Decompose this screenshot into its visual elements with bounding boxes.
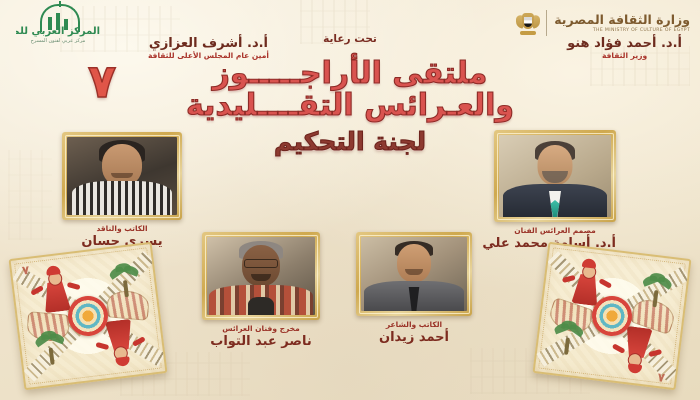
portrait-nasser-abdel-tawab xyxy=(207,237,315,315)
portrait-osama-mohamed-ali xyxy=(499,135,611,217)
member-name: ناصر عبد التواب xyxy=(202,334,320,350)
edition-number: ٧ xyxy=(88,58,116,104)
event-poster: المركز العربي للمسرح مركز عربي لفنون الم… xyxy=(0,0,700,400)
palm-tree-icon xyxy=(553,323,582,356)
member-role: مصمم العرائس الفنان xyxy=(494,226,616,236)
photo-frame xyxy=(62,132,182,220)
background-watermark xyxy=(8,150,52,240)
member-name: أحمد زيدان xyxy=(356,330,472,346)
photo-frame xyxy=(494,130,616,222)
jury-member-card: مصمم العرائس الفنان أ.د. أسامة محمد علي xyxy=(494,130,616,252)
panel-corner-glyph: ٧ xyxy=(21,263,30,278)
portrait-ahmed-zidan xyxy=(361,237,467,311)
jury-member-card: الكاتب والناقد يسري حسان xyxy=(62,132,182,250)
jury-member-card: الكاتب والشاعر أحمد زيدان xyxy=(356,232,472,346)
palm-tree-icon xyxy=(36,333,65,366)
member-role: مخرج وفنان العرائس xyxy=(202,324,320,334)
photo-frame xyxy=(356,232,472,316)
portrait-yosri-hassan xyxy=(67,137,177,215)
palm-tree-icon xyxy=(641,276,670,309)
panel-corner-glyph: ٧ xyxy=(657,370,666,385)
event-title: ٧ ملتقى الأراجـــــوز والعـرائس التقــــ… xyxy=(0,58,700,122)
ministry-name-arabic: وزارة الثقافة المصرية xyxy=(554,13,690,27)
jury-member-card: مخرج وفنان العرائس ناصر عبد التواب xyxy=(202,232,320,350)
secretary-name: أ.د. أشرف العزازي xyxy=(148,36,269,51)
palm-tree-icon xyxy=(110,266,139,299)
khayamiya-puppet-panel-right: ٧ xyxy=(532,242,691,391)
member-role: الكاتب والشاعر xyxy=(356,320,472,330)
member-role: الكاتب والناقد xyxy=(62,224,182,234)
patronage-text: تحت رعاية xyxy=(323,33,377,45)
photo-frame xyxy=(202,232,320,320)
khayamiya-puppet-panel-left: ٧ xyxy=(8,242,167,391)
poster-header: المركز العربي للمسرح مركز عربي لفنون الم… xyxy=(0,0,700,62)
minister-name: أ.د. أحمد فؤاد هنو xyxy=(567,36,682,51)
